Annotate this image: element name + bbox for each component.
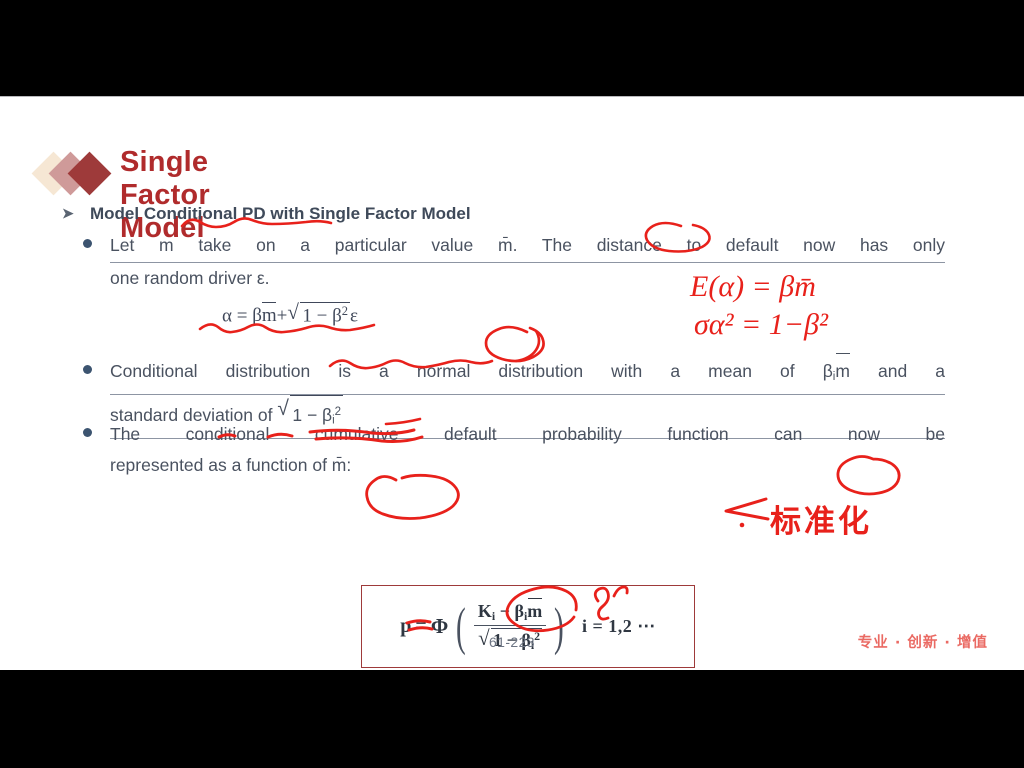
circle-sqrt [367, 475, 459, 518]
handwritten-variance: σα² = 1−β² [694, 308, 828, 342]
letterbox-top [0, 0, 1024, 96]
screenshot-root: Single Factor Model ➤ Model Conditional … [0, 0, 1024, 768]
bullet-3-line-1: The conditional cumulative default proba… [110, 419, 945, 450]
bullet-3-line-2: represented as a function of m̄: [110, 450, 945, 481]
boxed-formula: p = Φ ( Ki − βim 1 − βi2 ) i = 1,2 ⋯ [361, 585, 695, 668]
eq-lhs: α [222, 305, 232, 326]
formula-numerator: Ki − βim [474, 601, 546, 625]
handwritten-chinese-note: 标准化 [770, 496, 872, 541]
arrow-bullet-icon: ➤ [62, 205, 74, 222]
eq-plus: + [277, 305, 288, 326]
eq-radicand: 1 − β2 [300, 302, 350, 327]
bullet-2-text-b: and a [850, 361, 945, 381]
section-heading-label: Model Conditional PD with Single Factor … [90, 204, 962, 224]
diamond-logo-icon [38, 154, 124, 194]
arrow-to-chinese-note [726, 499, 768, 519]
eq-sqrt: 1 − β2 [287, 302, 350, 327]
bullet-2-text-a: Conditional distribution is a normal dis… [110, 361, 823, 381]
eq-equals: = [237, 305, 248, 326]
bullet-2-line-1: Conditional distribution is a normal dis… [110, 356, 945, 395]
bullet-dot-icon [83, 428, 92, 437]
eq-term1: βm [252, 305, 276, 326]
bullet-1-line-1: Let m take on a particular value m̄. The… [110, 230, 945, 263]
bullet-dot-icon [83, 365, 92, 374]
list-item: The conditional cumulative default proba… [110, 419, 945, 481]
bullet-1-line-2: one random driver ε. [110, 263, 945, 294]
arrow-dot-icon [740, 523, 745, 528]
inline-equation: α = βm+1 − β2ε [222, 302, 358, 327]
bullet-dot-icon [83, 239, 92, 248]
bullet-2-math-beta-m: βim [823, 361, 850, 381]
footer-logo-text: 专业 · 创新 · 增值 [858, 631, 988, 652]
presentation-slide: Single Factor Model ➤ Model Conditional … [0, 96, 1024, 670]
section-heading: ➤ Model Conditional PD with Single Facto… [62, 204, 962, 224]
eq-tail: ε [350, 305, 358, 326]
letterbox-bottom [0, 670, 1024, 768]
handwritten-expectation: E(α) = βm̄ [690, 270, 816, 304]
list-item: Let m take on a particular value m̄. The… [110, 230, 945, 294]
